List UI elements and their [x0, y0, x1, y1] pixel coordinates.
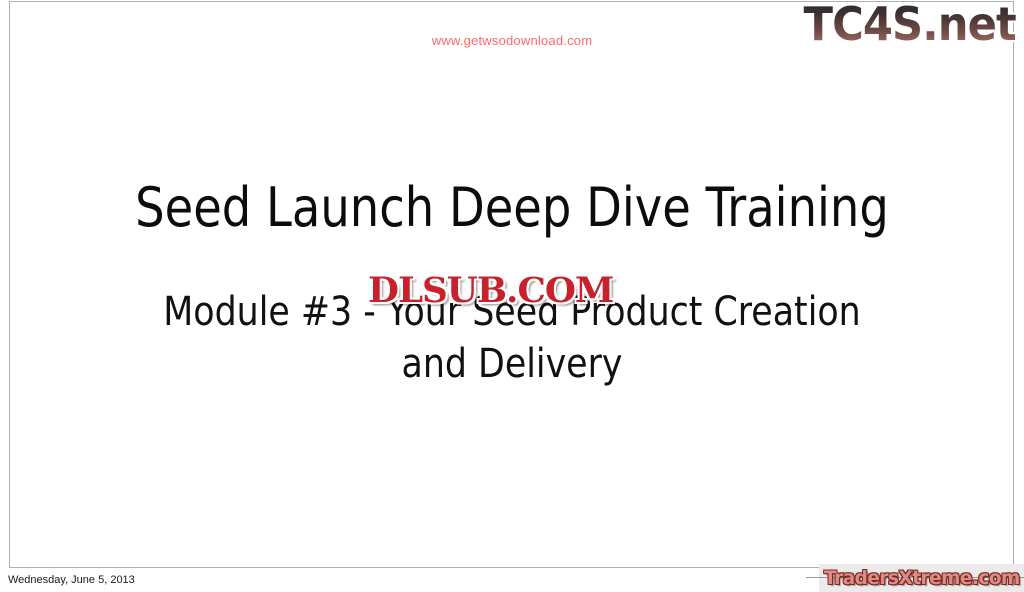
- dlsub-overlay-watermark: DLSUB.COM: [368, 272, 613, 310]
- slide-subtitle-line-2: and Delivery: [121, 338, 904, 390]
- slide-title: Seed Launch Deep Dive Training: [125, 176, 899, 240]
- tc4s-logo-watermark: TC4S.net: [804, 0, 1016, 52]
- slide-date: Wednesday, June 5, 2013: [8, 574, 135, 586]
- slide-root: www.getwsodownload.com TC4S.net Seed Lau…: [0, 0, 1024, 592]
- tradersxtreme-watermark: TradersXtreme.com: [824, 566, 1020, 590]
